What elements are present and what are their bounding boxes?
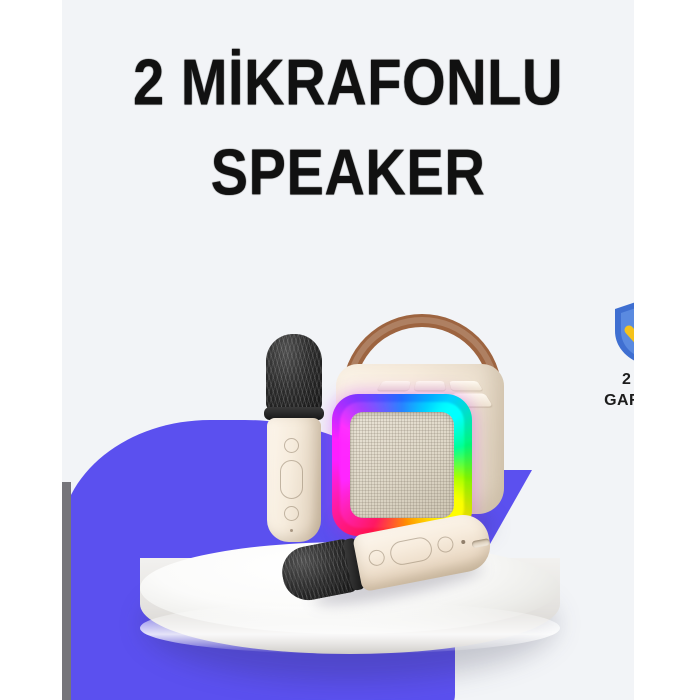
- warranty-badge-text: 2 YIL GARANTİ: [586, 369, 634, 411]
- microphone-button-oval: [280, 460, 303, 499]
- speaker-button-2: [414, 381, 445, 391]
- product-canvas: 2 MİKRAFONLU SPEAKER: [62, 0, 634, 700]
- page-title: 2 MİKRAFONLU SPEAKER: [62, 50, 634, 195]
- warranty-line-1: 2 YIL: [586, 369, 634, 390]
- speaker-mesh-grille: [350, 412, 454, 518]
- speaker-button-3: [449, 381, 483, 391]
- shield-check-icon: [586, 298, 634, 366]
- microphone-mesh-head: [266, 334, 322, 412]
- warranty-line-2: GARANTİ: [586, 390, 634, 411]
- canvas-left-edge-strip: [62, 482, 71, 700]
- microphone-button-circle-bottom: [284, 506, 299, 521]
- headline-line-2: SPEAKER: [62, 140, 634, 205]
- headline-line-1: 2 MİKRAFONLU: [62, 50, 634, 115]
- wireless-microphone-standing: [258, 334, 332, 544]
- product-image-stage: 2 MİKRAFONLU SPEAKER: [0, 0, 700, 700]
- microphone-button-circle-top: [284, 438, 299, 453]
- warranty-badge: 2 YIL GARANTİ: [586, 298, 634, 416]
- speaker-button-1: [377, 381, 411, 391]
- microphone-led-indicator: [290, 529, 293, 532]
